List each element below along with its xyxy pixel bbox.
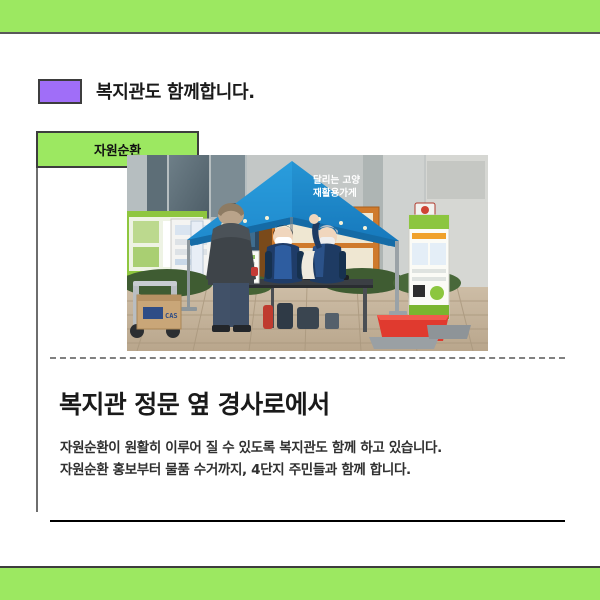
body-line-2: 자원순환 홍보부터 물품 수거까지, 4단지 주민들과 함께 합니다. — [60, 459, 540, 481]
top-green-band — [0, 0, 600, 34]
dashed-divider — [50, 357, 565, 359]
bottom-black-rule — [50, 520, 565, 522]
event-photo: 달리는 고양 재활용가게 — [127, 155, 488, 351]
headline-text: 복지관도 함께합니다. — [96, 78, 255, 104]
purple-swatch-icon — [38, 79, 82, 104]
headline-row: 복지관도 함께합니다. — [38, 78, 255, 104]
section-title: 복지관 정문 옆 경사로에서 — [59, 385, 330, 421]
slide-canvas: 복지관도 함께합니다. 자원순환 — [0, 0, 600, 600]
body-copy: 자원순환이 원활히 이루어 질 수 있도록 복지관도 함께 하고 있습니다. 자… — [60, 437, 540, 481]
bottom-green-band — [0, 566, 600, 600]
svg-text:CAS: CAS — [165, 312, 178, 320]
body-line-1: 자원순환이 원활히 이루어 질 수 있도록 복지관도 함께 하고 있습니다. — [60, 437, 540, 459]
left-vertical-rule — [36, 131, 38, 512]
event-photo-illustration: 달리는 고양 재활용가게 — [127, 155, 488, 351]
svg-text:재활용가게: 재활용가게 — [313, 187, 357, 199]
svg-text:달리는 고양: 달리는 고양 — [313, 174, 360, 186]
